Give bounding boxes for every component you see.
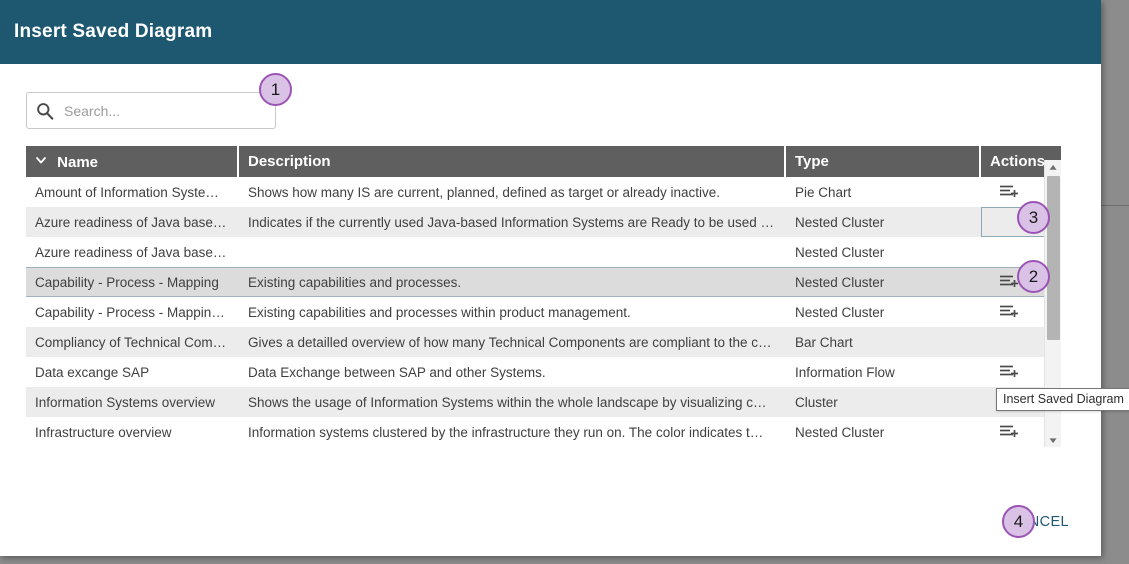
dialog-body: Name Description Type Actions Amount of bbox=[0, 92, 1101, 447]
cell-type: Cluster bbox=[786, 387, 981, 417]
cell-name: Azure readiness of Java based… bbox=[26, 237, 239, 267]
insert-diagram-icon[interactable] bbox=[999, 184, 1019, 198]
table-header-row: Name Description Type Actions bbox=[26, 146, 1061, 177]
cell-type: Nested Cluster bbox=[786, 267, 981, 297]
cell-name: Capability - Process - Mapping bbox=[26, 267, 239, 297]
scroll-down-arrow-icon[interactable] bbox=[1045, 433, 1061, 447]
cell-name: Data excange SAP bbox=[26, 357, 239, 387]
cell-name: Infrastructure overview bbox=[26, 417, 239, 447]
dialog-footer: CANCEL bbox=[0, 488, 1101, 556]
table-body: Amount of Information System…Shows how m… bbox=[26, 177, 1061, 447]
search-input[interactable] bbox=[62, 102, 262, 120]
cell-description: Existing capabilities and processes. bbox=[239, 267, 786, 297]
cell-description: Data Exchange between SAP and other Syst… bbox=[239, 357, 786, 387]
chevron-down-icon bbox=[35, 153, 47, 170]
cell-type: Nested Cluster bbox=[786, 237, 981, 267]
search-box[interactable] bbox=[26, 92, 276, 129]
backdrop-divider bbox=[1101, 205, 1129, 206]
cell-type: Bar Chart bbox=[786, 327, 981, 357]
column-header-name-label: Name bbox=[57, 154, 98, 171]
cell-description: Gives a detailled overview of how many T… bbox=[239, 327, 786, 357]
cell-type: Nested Cluster bbox=[786, 417, 981, 447]
table-row[interactable]: Information Systems overviewShows the us… bbox=[26, 387, 1061, 417]
table-row[interactable]: Compliancy of Technical Com…Gives a deta… bbox=[26, 327, 1061, 357]
cell-type: Information Flow bbox=[786, 357, 981, 387]
cell-description: Existing capabilities and processes with… bbox=[239, 297, 786, 327]
scrollbar-thumb[interactable] bbox=[1047, 176, 1060, 340]
cell-type: Pie Chart bbox=[786, 177, 981, 207]
insert-diagram-icon[interactable] bbox=[999, 364, 1019, 378]
cell-name: Capability - Process - Mapping … bbox=[26, 297, 239, 327]
annotation-badge-1: 1 bbox=[259, 73, 292, 106]
dialog-header: Insert Saved Diagram bbox=[0, 0, 1101, 64]
cell-name: Amount of Information System… bbox=[26, 177, 239, 207]
table-row[interactable]: Infrastructure overviewInformation syste… bbox=[26, 417, 1061, 447]
search-icon bbox=[36, 102, 54, 120]
diagram-table-viewport: Name Description Type Actions Amount of bbox=[26, 129, 1061, 447]
tooltip: Insert Saved Diagram bbox=[996, 388, 1129, 411]
table-row[interactable]: Capability - Process - MappingExisting c… bbox=[26, 267, 1061, 297]
insert-saved-diagram-dialog: Insert Saved Diagram bbox=[0, 0, 1101, 556]
cell-description bbox=[239, 237, 786, 267]
column-header-name[interactable]: Name bbox=[26, 146, 239, 177]
cell-name: Information Systems overview bbox=[26, 387, 239, 417]
insert-diagram-icon[interactable] bbox=[999, 274, 1019, 288]
cell-description: Shows the usage of Information Systems w… bbox=[239, 387, 786, 417]
column-header-actions-label: Actions bbox=[990, 153, 1045, 170]
table-row[interactable]: Amount of Information System…Shows how m… bbox=[26, 177, 1061, 207]
table-row[interactable]: Azure readiness of Java based…Indicates … bbox=[26, 207, 1061, 237]
annotation-badge-3: 3 bbox=[1017, 201, 1050, 234]
cell-type: Nested Cluster bbox=[786, 297, 981, 327]
cell-description: Shows how many IS are current, planned, … bbox=[239, 177, 786, 207]
saved-diagram-table: Name Description Type Actions Amount of bbox=[26, 146, 1061, 447]
column-header-description-label: Description bbox=[248, 153, 331, 170]
table-row[interactable]: Azure readiness of Java based…Nested Clu… bbox=[26, 237, 1061, 267]
page-title: Insert Saved Diagram bbox=[14, 21, 212, 43]
column-header-description[interactable]: Description bbox=[239, 146, 786, 177]
table-row[interactable]: Capability - Process - Mapping …Existing… bbox=[26, 297, 1061, 327]
cell-name: Compliancy of Technical Com… bbox=[26, 327, 239, 357]
search-field-wrapper bbox=[26, 92, 276, 129]
annotation-badge-4: 4 bbox=[1002, 505, 1035, 538]
table-row[interactable]: Data excange SAPData Exchange between SA… bbox=[26, 357, 1061, 387]
cell-description: Indicates if the currently used Java-bas… bbox=[239, 207, 786, 237]
insert-diagram-icon[interactable] bbox=[999, 424, 1019, 438]
insert-diagram-icon[interactable] bbox=[999, 304, 1019, 318]
annotation-badge-2: 2 bbox=[1017, 260, 1050, 293]
cell-name: Azure readiness of Java based… bbox=[26, 207, 239, 237]
cell-description: Information systems clustered by the inf… bbox=[239, 417, 786, 447]
column-header-type-label: Type bbox=[795, 153, 829, 170]
cell-type: Nested Cluster bbox=[786, 207, 981, 237]
scroll-up-arrow-icon[interactable] bbox=[1045, 160, 1061, 174]
column-header-type[interactable]: Type bbox=[786, 146, 981, 177]
